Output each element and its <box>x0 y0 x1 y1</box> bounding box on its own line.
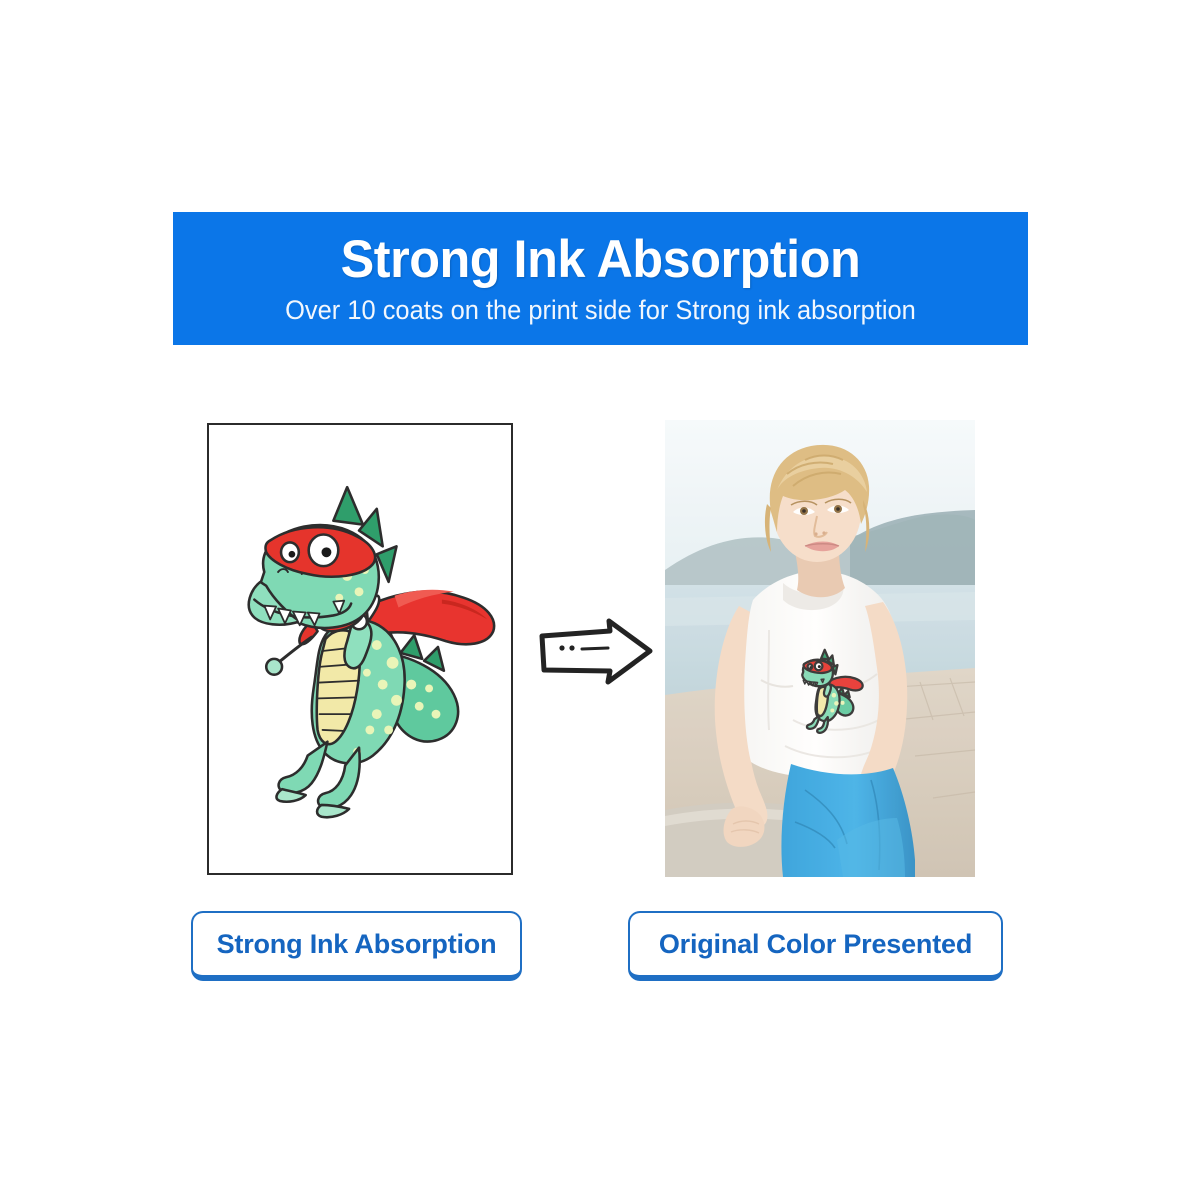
boy-wearing-tshirt-photo <box>665 420 975 877</box>
right-arrow-icon <box>538 618 654 686</box>
label-original-color-presented[interactable]: Original Color Presented <box>628 911 1003 981</box>
dinosaur-illustration <box>209 425 511 873</box>
banner-title: Strong Ink Absorption <box>341 233 861 286</box>
label-left-text: Strong Ink Absorption <box>217 929 497 960</box>
label-strong-ink-absorption[interactable]: Strong Ink Absorption <box>191 911 522 981</box>
marketing-infographic: Strong Ink Absorption Over 10 coats on t… <box>0 0 1200 1200</box>
feature-banner: Strong Ink Absorption Over 10 coats on t… <box>173 212 1028 345</box>
printed-paper-panel <box>207 423 513 875</box>
banner-subtitle: Over 10 coats on the print side for Stro… <box>285 296 916 325</box>
label-right-text: Original Color Presented <box>659 929 972 960</box>
tshirt-photo-panel <box>665 420 975 877</box>
